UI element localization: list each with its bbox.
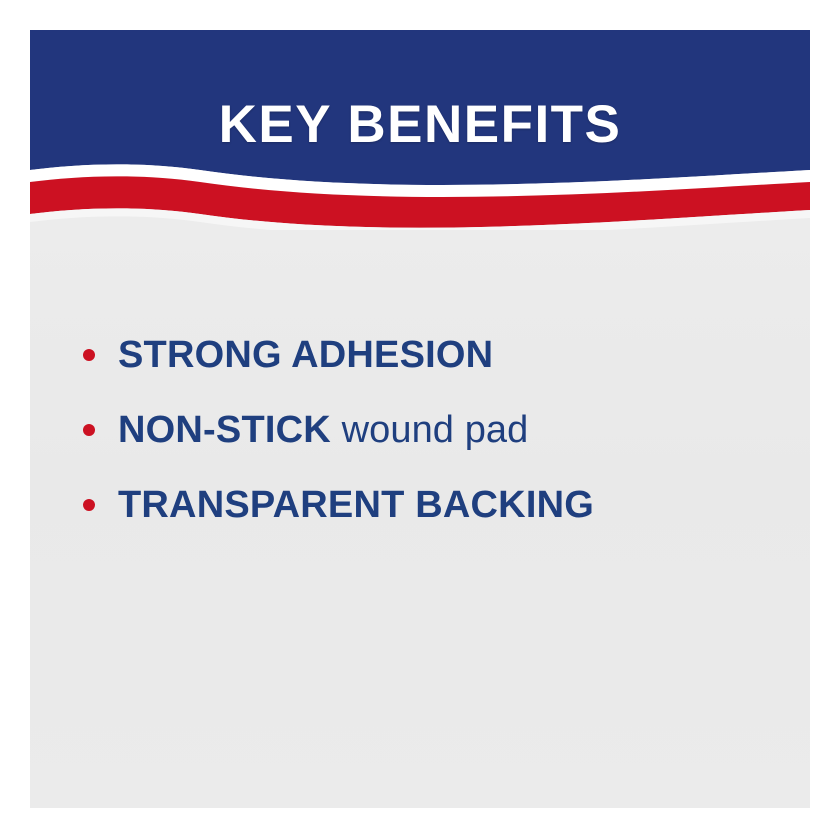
benefit-strong-text: NON-STICK xyxy=(118,409,331,451)
bullet-dot-icon xyxy=(83,349,95,361)
benefits-card: KEY BENEFITS STRONG ADHESION NON-STICK w… xyxy=(30,30,810,808)
benefit-strong-text: TRANSPARENT BACKING xyxy=(118,484,594,526)
benefit-light-text: wound pad xyxy=(331,409,529,451)
benefit-text: STRONG ADHESION xyxy=(118,336,493,376)
list-item: TRANSPARENT BACKING xyxy=(78,468,778,543)
benefit-strong-text: STRONG ADHESION xyxy=(118,334,493,376)
bullet-dot-icon xyxy=(83,499,95,511)
benefits-list: STRONG ADHESION NON-STICK wound pad TRAN… xyxy=(78,318,778,543)
list-item: STRONG ADHESION xyxy=(78,318,778,393)
page-title: KEY BENEFITS xyxy=(30,98,810,151)
key-benefits-graphic: KEY BENEFITS STRONG ADHESION NON-STICK w… xyxy=(0,0,840,840)
benefit-text: NON-STICK wound pad xyxy=(118,411,528,451)
list-item: NON-STICK wound pad xyxy=(78,393,778,468)
benefit-text: TRANSPARENT BACKING xyxy=(118,486,594,526)
header-banner: KEY BENEFITS xyxy=(30,30,810,230)
bullet-dot-icon xyxy=(83,424,95,436)
